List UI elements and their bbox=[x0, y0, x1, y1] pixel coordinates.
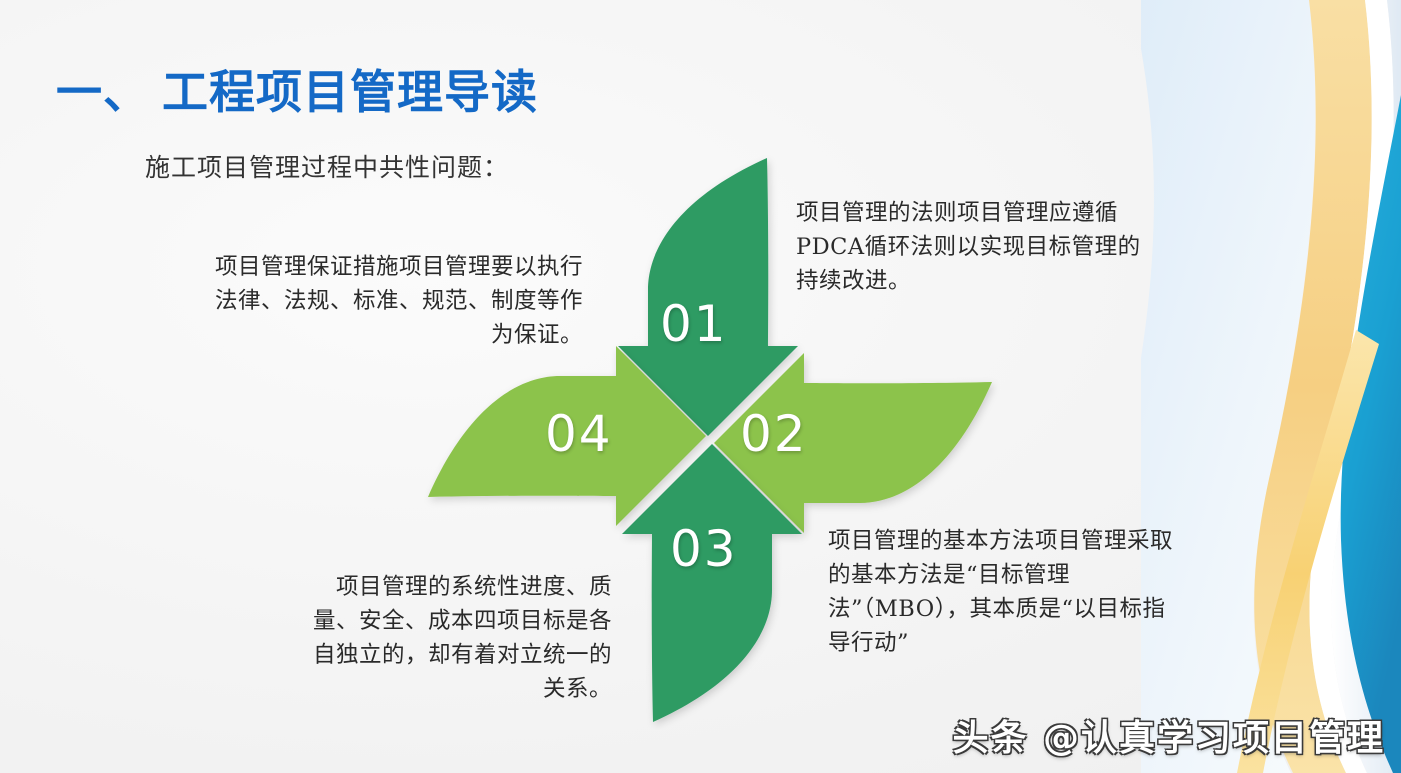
page-title: 一、 工程项目管理导读 bbox=[56, 56, 538, 122]
decorative-ribbons bbox=[1141, 0, 1401, 773]
paragraph-03: 项目管理的系统性进度、质量、安全、成本四项目标是各自独立的，却有着对立统一的关系… bbox=[300, 570, 612, 706]
paragraph-02: 项目管理的基本方法项目管理采取的基本方法是“目标管理法”（MBO），其本质是“以… bbox=[828, 524, 1176, 660]
title-text: 工程项目管理导读 bbox=[162, 56, 538, 122]
title-index: 一、 bbox=[56, 56, 150, 122]
paragraph-04: 项目管理保证措施项目管理要以执行法律、法规、标准、规范、制度等作为保证。 bbox=[205, 250, 583, 352]
watermark-text: 头条 @认真学习项目管理 bbox=[952, 709, 1385, 761]
slide-canvas: 一、 工程项目管理导读 施工项目管理过程中共性问题： bbox=[0, 0, 1401, 773]
paragraph-01: 项目管理的法则项目管理应遵循PDCA循环法则以实现目标管理的持续改进。 bbox=[796, 196, 1156, 298]
